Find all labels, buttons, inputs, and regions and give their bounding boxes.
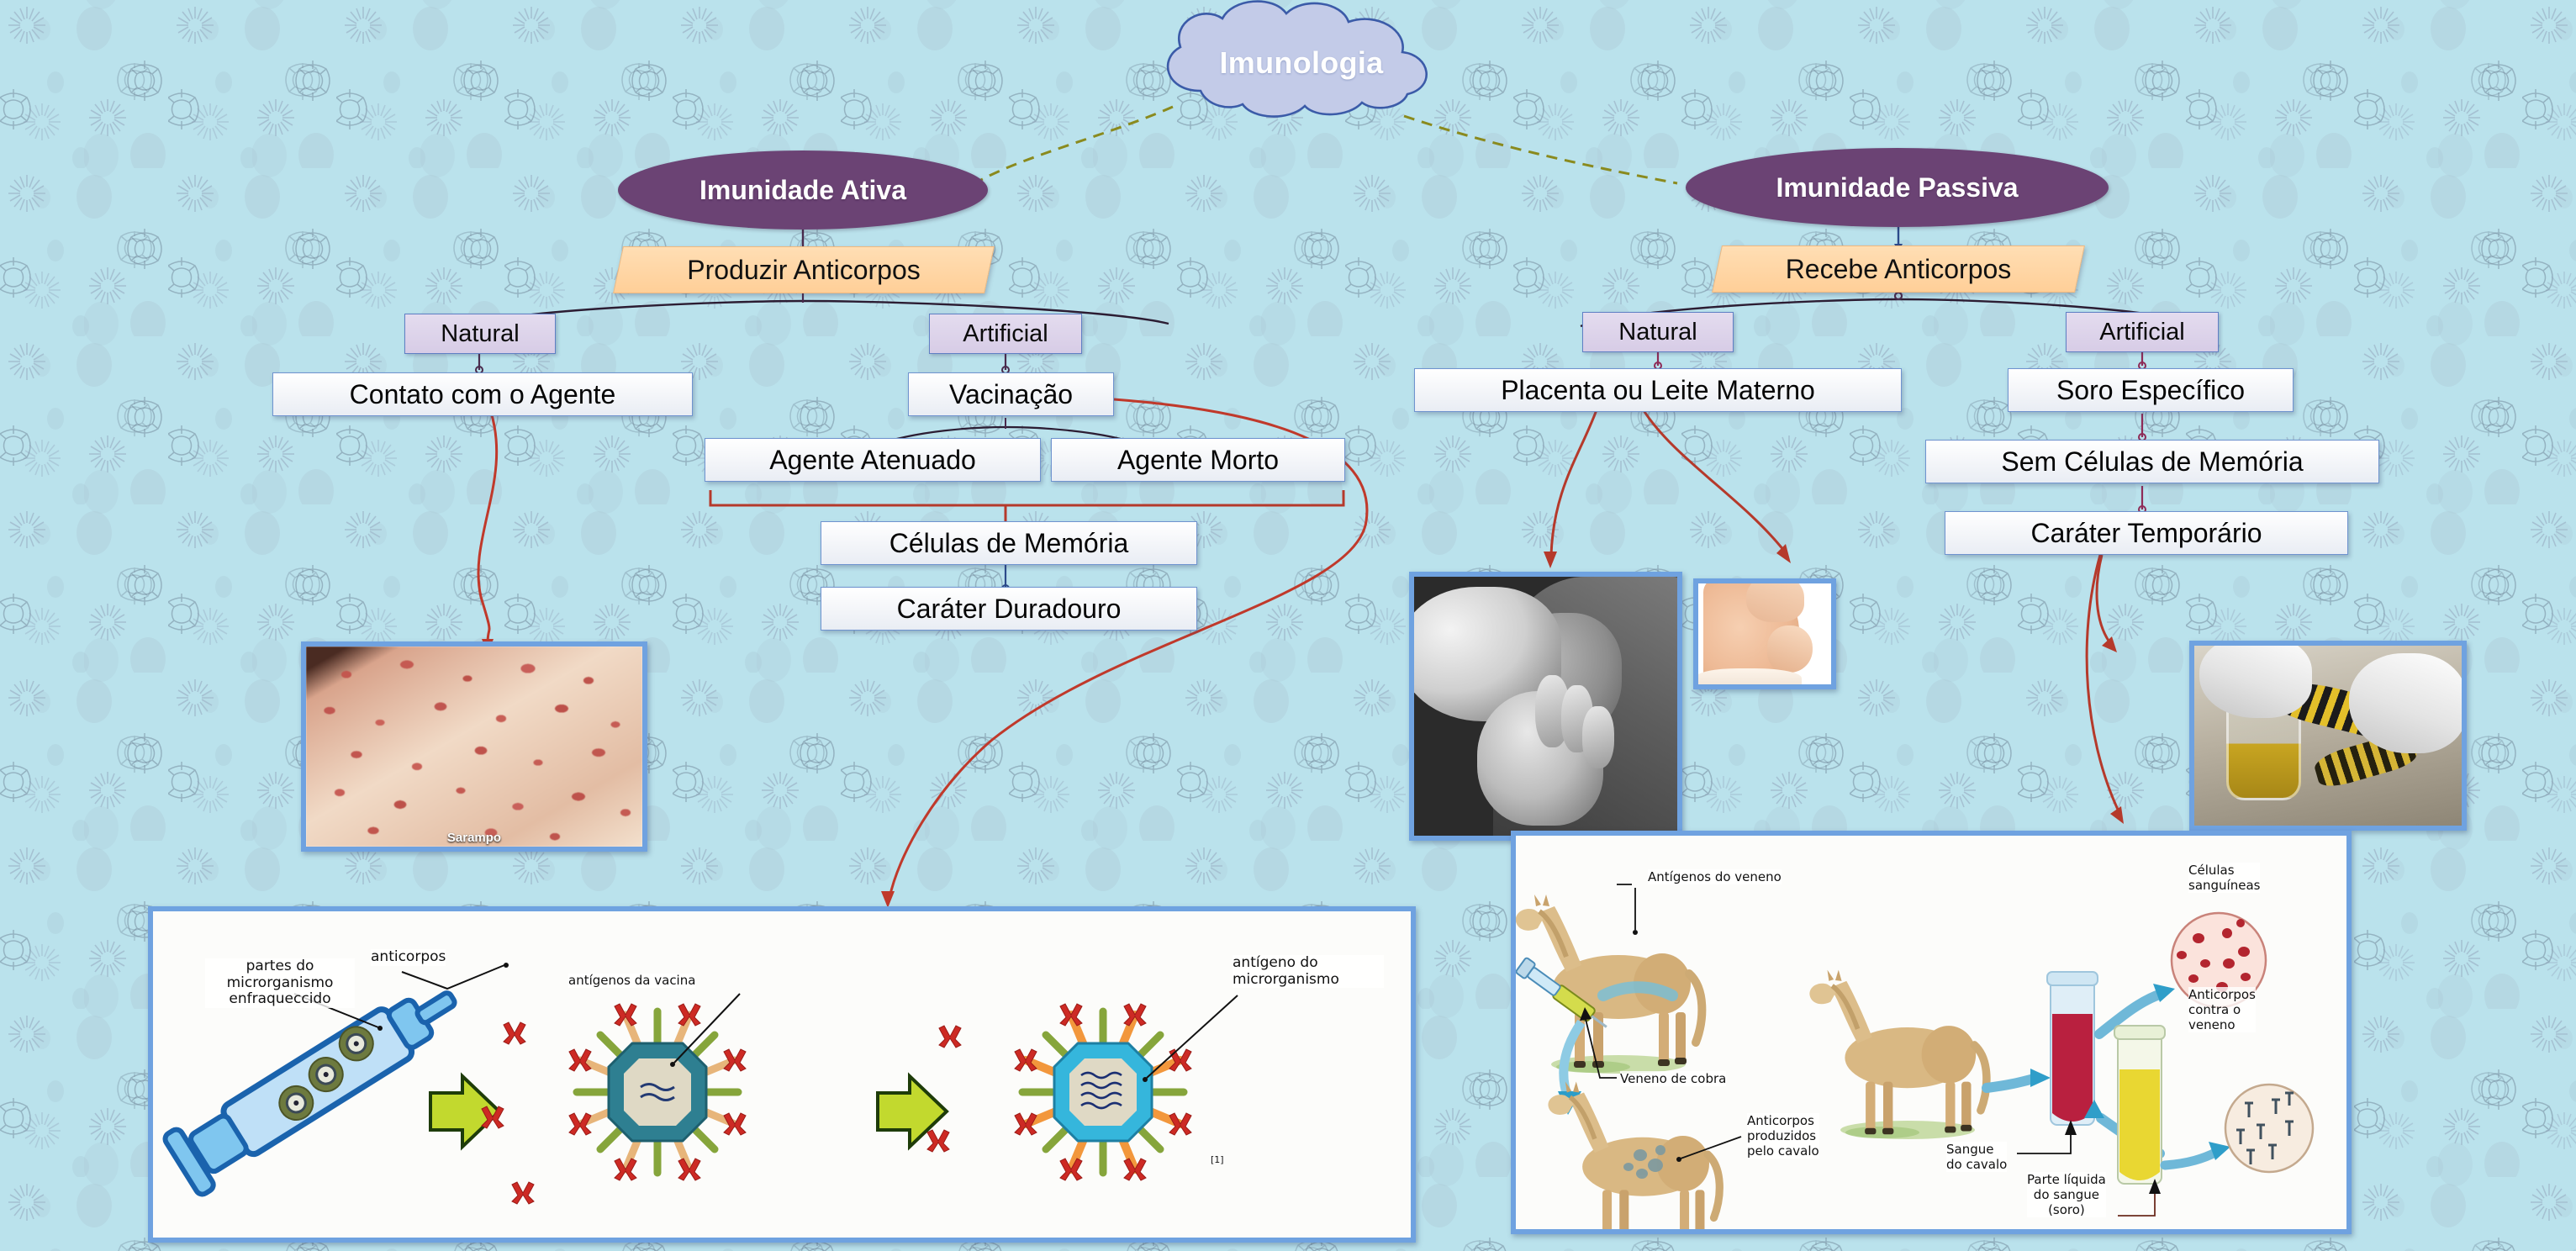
upper-arm-shape [1746,583,1805,622]
branch-title-label: Imunidade Passiva [1776,172,2018,203]
type-ativa-artificial[interactable]: Artificial [929,314,1082,354]
type-passiva-natural[interactable]: Natural [1582,312,1734,352]
root-label: Imunologia [1150,0,1453,126]
gloved-hand-left [2199,646,2312,718]
virus-with-antibodies-1 [482,1004,746,1204]
vaccine-diagram-content: partes do microrganismo enfraqueccido an… [153,911,1411,1238]
serum-diagram-content: Antígenos do veneno Veneno de cobra Anti… [1516,836,2346,1229]
lower-hand-shape [1767,625,1813,672]
baby-finger-3 [1582,706,1614,768]
label-parte-liquida-do-sangue-soro: Parte líquida do sangue (soro) [2027,1172,2106,1217]
action-label: Produzir Anticorpos [687,255,920,286]
connector-temporario-to-venom [2097,555,2110,643]
detail-label: Placenta ou Leite Materno [1501,375,1815,406]
connector-agentes-bracket [710,490,1343,525]
child-label: Agente Morto [1117,445,1279,476]
outcome-carater-temporario[interactable]: Caráter Temporário [1945,511,2348,555]
type-label: Artificial [963,320,1048,348]
outcome-label: Caráter Temporário [2030,518,2262,549]
branch-title-label: Imunidade Ativa [699,175,906,206]
detail-contato-com-o-agente[interactable]: Contato com o Agente [272,372,693,416]
detail-label: Vacinação [949,379,1073,410]
child-label: Agente Atenuado [769,445,976,476]
measles-caption: Sarampo [306,831,642,845]
detail-placenta-ou-leite-materno[interactable]: Placenta ou Leite Materno [1414,368,1902,412]
branch-title-imunidade-ativa[interactable]: Imunidade Ativa [618,150,988,230]
horse-blood-source [1809,970,1987,1139]
label-antigeno-do-microrganismo: antígeno do microrganismo [1233,955,1384,988]
detail-label: Contato com o Agente [350,379,616,410]
outcome-celulas-de-memoria[interactable]: Células de Memória [821,521,1197,565]
child-agente-atenuado[interactable]: Agente Atenuado [705,438,1041,482]
cloth-shape [1698,668,1802,684]
pregnancy-photo-content [1698,583,1831,684]
snake-venom-extraction-photo[interactable] [2189,641,2467,831]
type-ativa-natural[interactable]: Natural [404,314,556,354]
type-passiva-artificial[interactable]: Artificial [2066,312,2219,352]
label-partes-microrganismo-enfraqueccido: partes do microrganismo enfraqueccido [205,958,355,1008]
breastfeeding-photo-content [1414,577,1677,836]
leader-parte-liquida [2118,1185,2155,1216]
type-label: Artificial [2099,319,2185,346]
child-agente-morto[interactable]: Agente Morto [1051,438,1345,482]
connector-temporario-to-serum [2087,555,2119,811]
branch-title-imunidade-passiva[interactable]: Imunidade Passiva [1686,148,2109,227]
label-anticorpos: anticorpos [371,949,446,966]
outcome-label: Caráter Duradouro [897,594,1122,625]
label-celulas-sanguineas: Células sanguíneas [2188,863,2260,893]
outcome-label: Sem Células de Memória [2001,446,2303,478]
detail-label: Soro Específico [2056,375,2245,406]
connector-root-to-ativa [979,107,1173,181]
gloved-hand-right [2349,653,2462,754]
connector-placenta-to-breastfeeding [1551,408,1597,555]
connector-contato-to-sarampo [478,409,497,644]
breastfeeding-photo[interactable] [1409,572,1682,841]
mindmap-canvas: Imunologia Imunidade Ativa Produzir Anti… [0,0,2576,1251]
horse-serum-production-diagram[interactable]: Antígenos do veneno Veneno de cobra Anti… [1511,831,2352,1234]
measles-rash-photo[interactable]: Sarampo [301,641,647,852]
blood-test-tube [2047,972,2098,1125]
label-sangue-do-cavalo: Sangue do cavalo [1946,1142,2007,1172]
leader-line-anticorpos [402,965,504,989]
label-antigenos-do-veneno: Antígenos do veneno [1648,869,1782,884]
root-node-imunologia[interactable]: Imunologia [1150,0,1453,126]
measles-photo-content [306,647,642,847]
vaccine-antibody-diagram[interactable]: partes do microrganismo enfraqueccido an… [148,906,1416,1243]
type-label: Natural [1618,319,1697,346]
virus-with-antibodies-2 [927,1004,1191,1180]
outcome-carater-duradouro[interactable]: Caráter Duradouro [821,587,1197,631]
measles-skin-texture [306,647,642,847]
venom-photo-content [2194,646,2462,826]
anti-venom-antibodies-circle [2225,1085,2313,1172]
label-anticorpos-contra-o-veneno: Anticorpos contra o veneno [2188,987,2256,1032]
green-arrow-2 [878,1076,947,1147]
citation-marker: [1] [1211,1155,1224,1166]
connector-placenta-to-pregnancy [1642,408,1784,551]
outcome-sem-celulas-de-memoria[interactable]: Sem Células de Memória [1925,440,2379,483]
label-antigenos-da-vacina: antígenos da vacina [568,974,695,988]
pregnant-belly-photo[interactable] [1693,578,1836,689]
detail-vacinacao[interactable]: Vacinação [908,372,1114,416]
outcome-label: Células de Memória [889,528,1129,559]
label-veneno-de-cobra: Veneno de cobra [1620,1071,1726,1086]
serum-test-tube [2114,1026,2165,1184]
leader-sangue-cavalo [2017,1127,2071,1153]
serum-diagram-svg [1516,836,2346,1229]
action-label: Recebe Anticorpos [1786,254,2012,285]
type-label: Natural [441,320,520,348]
action-recebe-anticorpos[interactable]: Recebe Anticorpos [1717,245,2080,293]
label-anticorpos-produzidos-pelo-cavalo: Anticorpos produzidos pelo cavalo [1747,1113,1819,1159]
action-produzir-anticorpos[interactable]: Produzir Anticorpos [618,246,990,293]
detail-soro-especifico[interactable]: Soro Específico [2008,368,2294,412]
